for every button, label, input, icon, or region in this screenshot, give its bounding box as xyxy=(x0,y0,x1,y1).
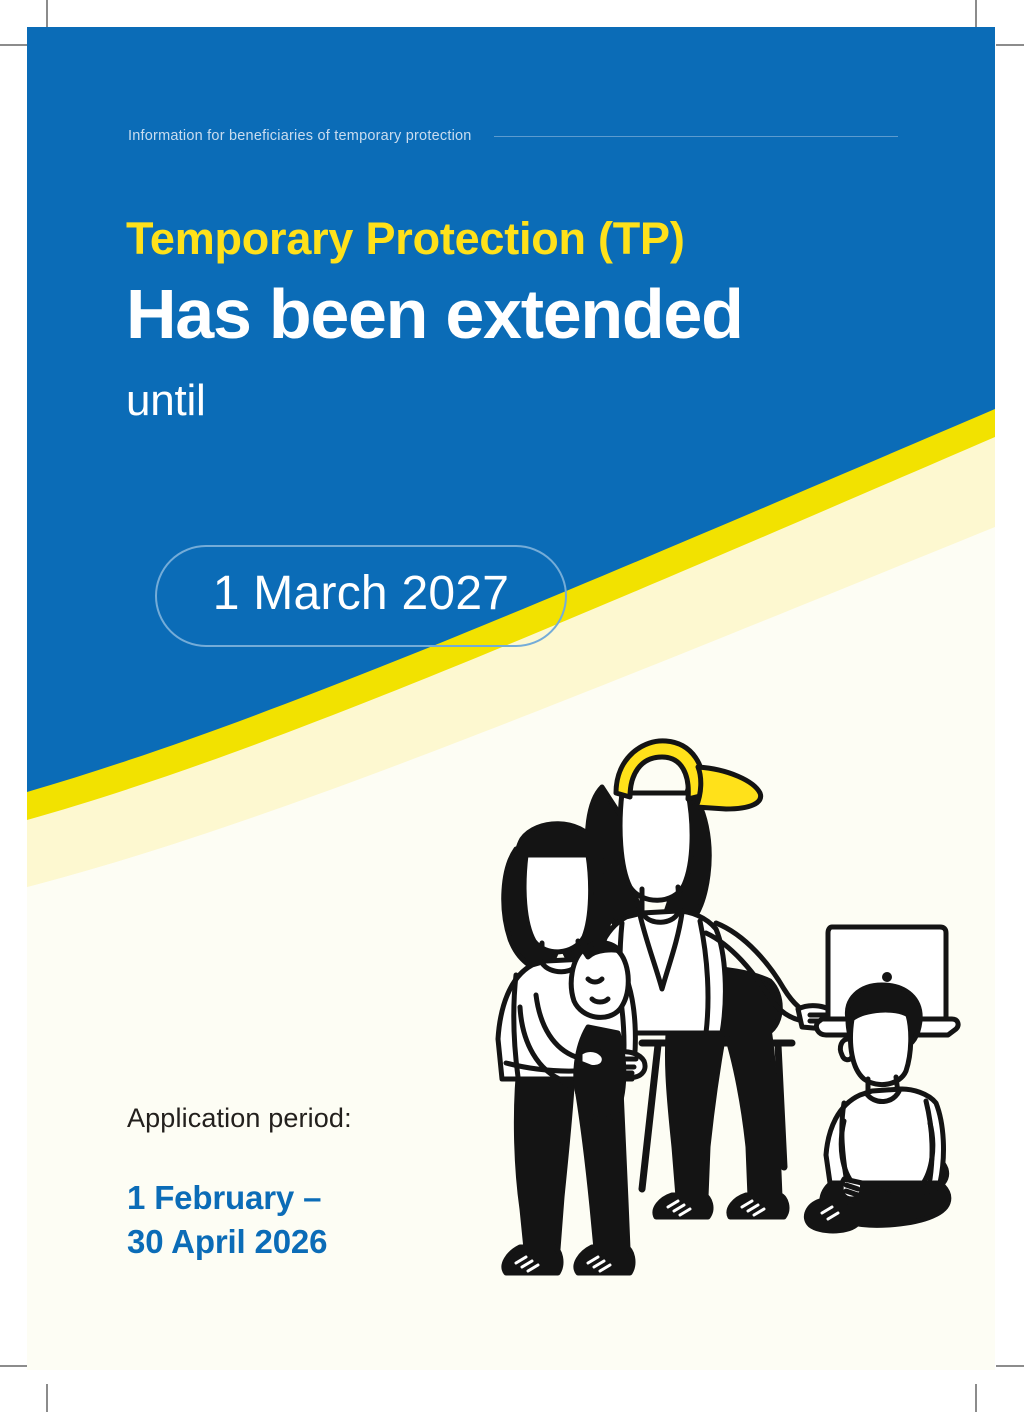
application-period-date-line-1: 1 February – xyxy=(127,1176,547,1220)
headline-main: Has been extended xyxy=(126,275,956,353)
expiry-date-value: 1 March 2027 xyxy=(213,570,509,618)
crop-mark-top-left-vertical xyxy=(46,0,48,28)
header-rule-icon xyxy=(494,136,898,137)
header-row: Information for beneficiaries of tempora… xyxy=(128,128,898,144)
application-period-label: Application period: xyxy=(127,1102,547,1134)
crop-mark-bottom-right-vertical xyxy=(975,1384,977,1412)
application-period-block: Application period: 1 February – 30 Apri… xyxy=(127,1102,547,1263)
kicker-text: Information for beneficiaries of tempora… xyxy=(128,128,472,144)
headline-until: until xyxy=(126,377,956,425)
crop-mark-bottom-left-horizontal xyxy=(0,1365,28,1367)
crop-mark-bottom-left-vertical xyxy=(46,1384,48,1412)
crop-mark-top-right-vertical xyxy=(975,0,977,28)
crop-mark-top-left-horizontal xyxy=(0,44,28,46)
crop-mark-top-right-horizontal xyxy=(996,44,1024,46)
family-with-laptop-illustration xyxy=(492,727,995,1287)
expiry-date-pill: 1 March 2027 xyxy=(155,545,567,647)
poster-artboard: Information for beneficiaries of tempora… xyxy=(27,27,995,1370)
headline-block: Temporary Protection (TP) Has been exten… xyxy=(126,212,956,426)
application-period-dates: 1 February – 30 April 2026 xyxy=(127,1176,547,1263)
crop-mark-bottom-right-horizontal xyxy=(996,1365,1024,1367)
application-period-date-line-2: 30 April 2026 xyxy=(127,1220,547,1264)
headline-subject: Temporary Protection (TP) xyxy=(126,212,956,265)
